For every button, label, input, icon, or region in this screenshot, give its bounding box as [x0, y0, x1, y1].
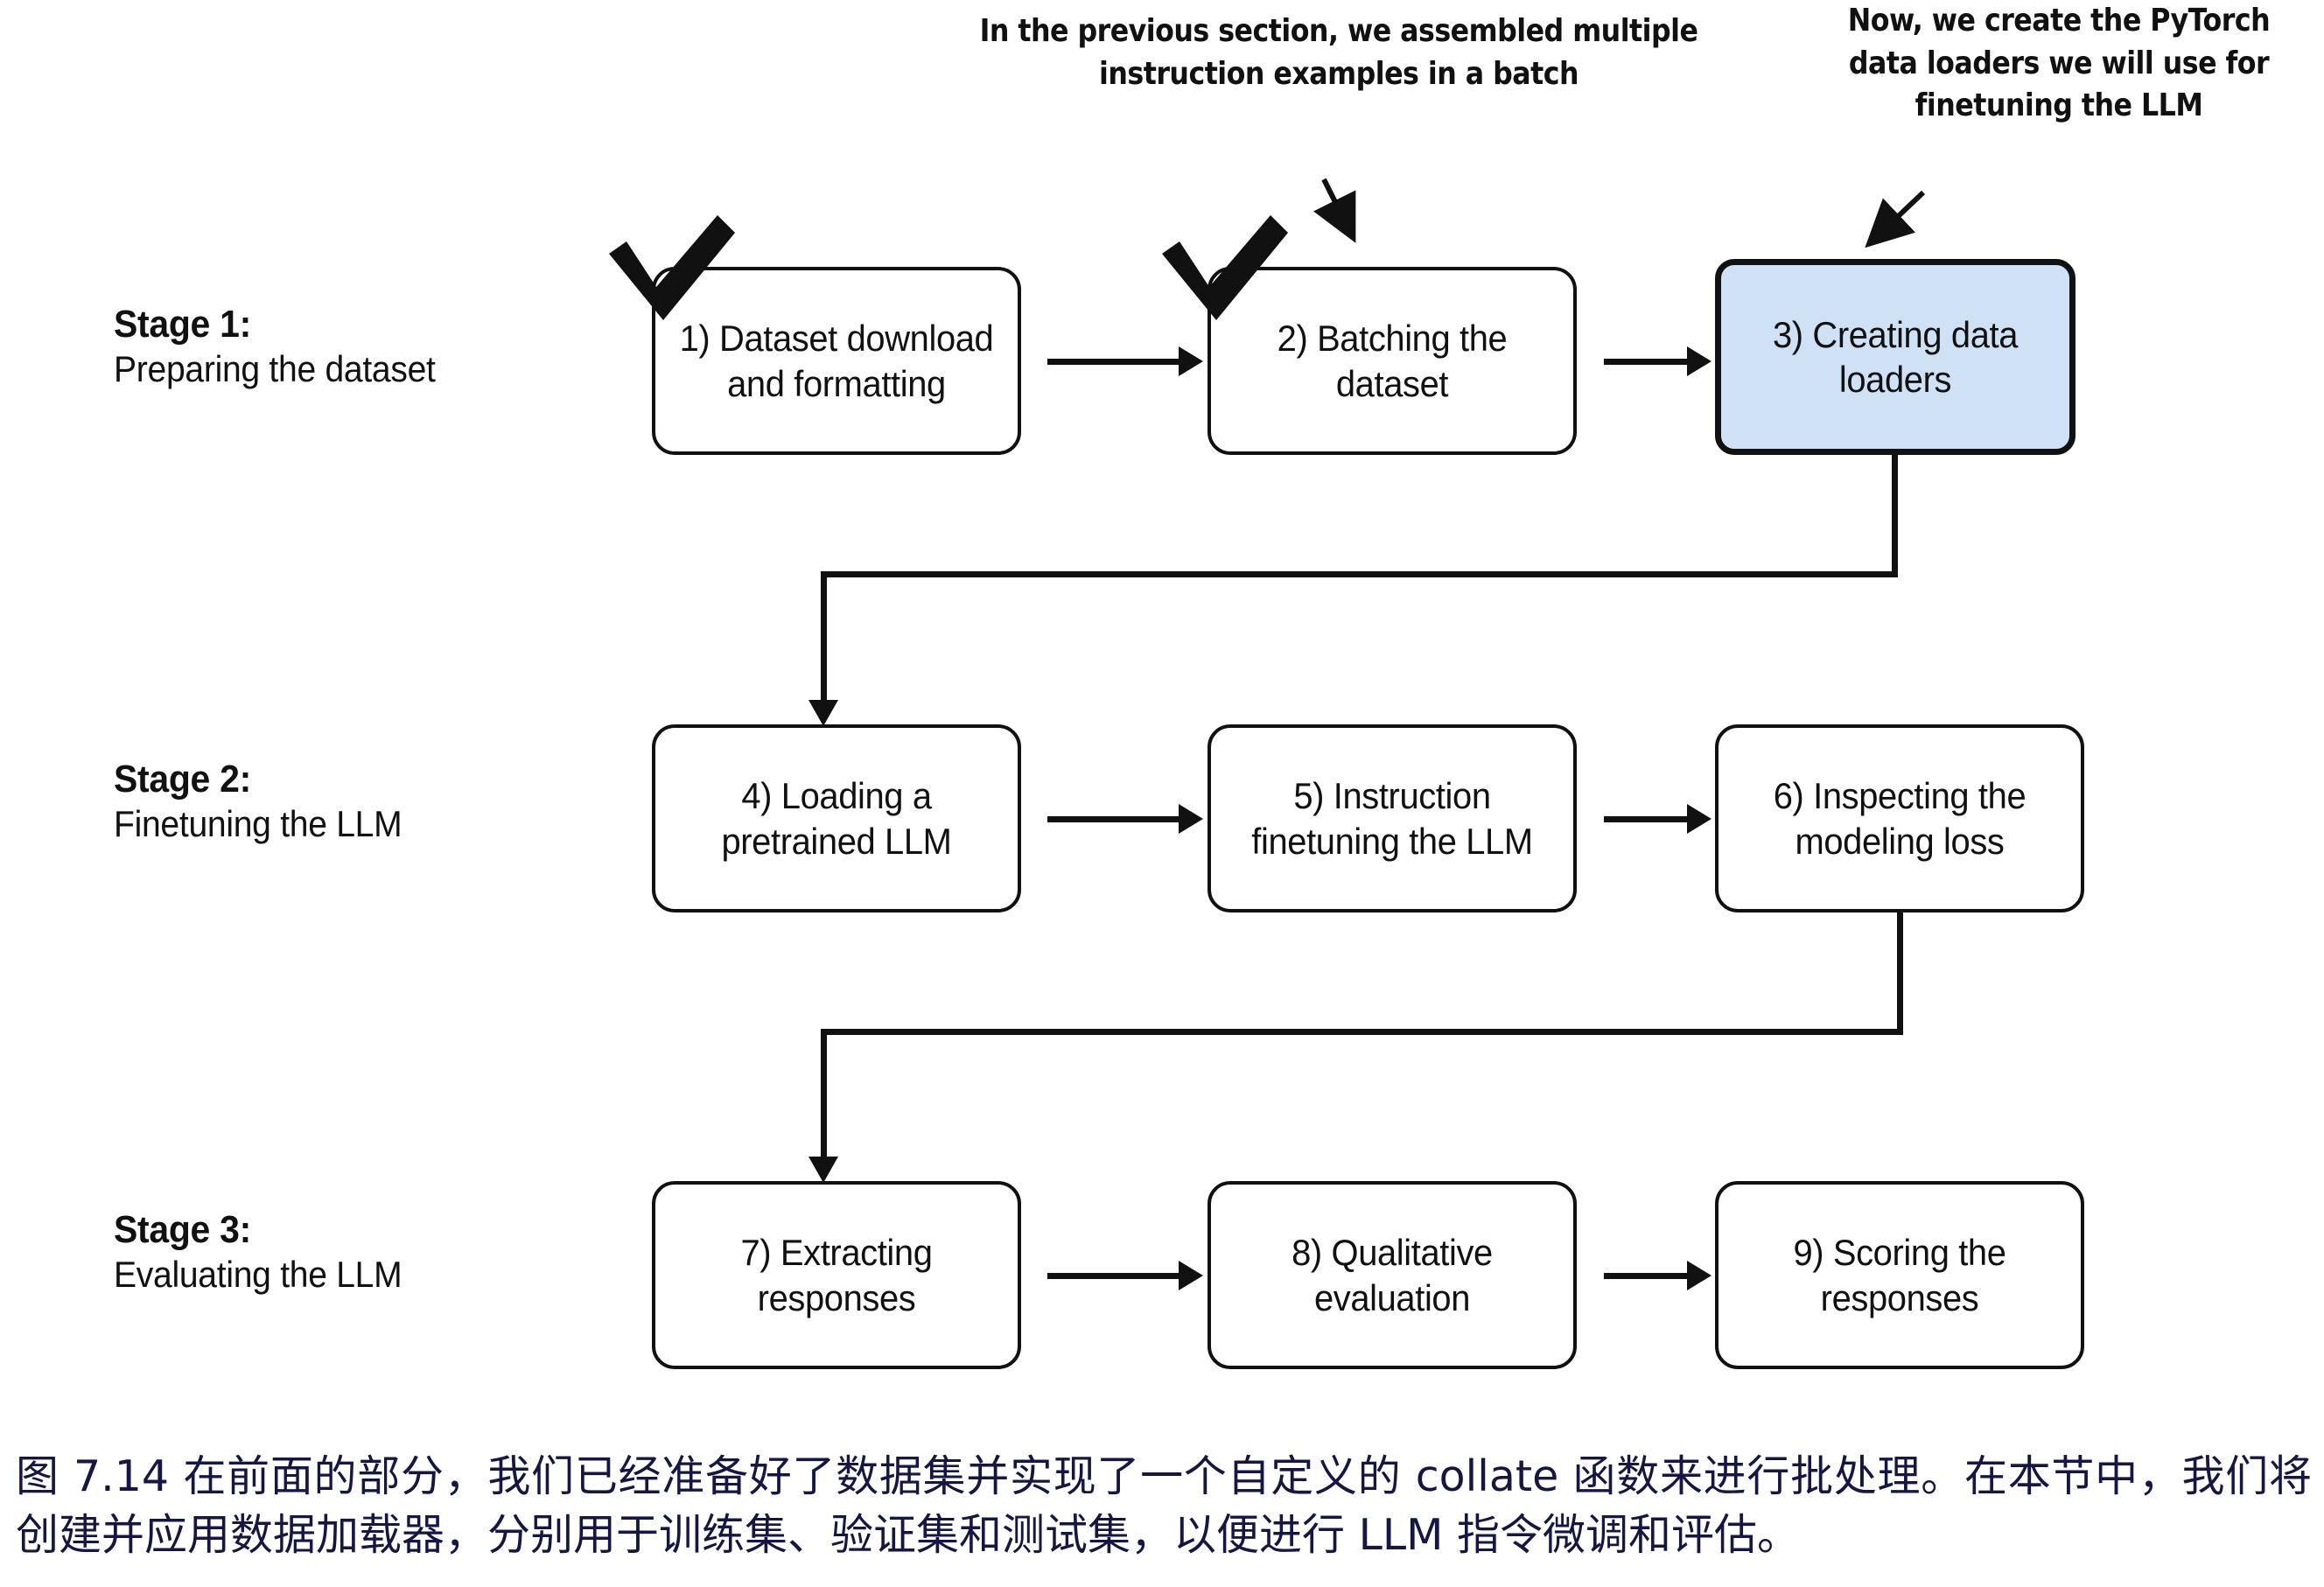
- process-box-5-label: 5) Instruction finetuning the LLM: [1232, 773, 1553, 863]
- stage-2-subtitle: Finetuning the LLM: [114, 802, 634, 846]
- stage-label-2: Stage 2: Finetuning the LLM: [114, 757, 634, 845]
- connector-box1-box2-arrowhead-icon: [1179, 346, 1203, 376]
- connector-stage2-stage3-horizontal: [821, 1029, 1903, 1035]
- connector-box2-box3-arrowhead-icon: [1687, 346, 1711, 376]
- figure-caption: 图 7.14 在前面的部分，我们已经准备好了数据集并实现了一个自定义的 coll…: [16, 1448, 2312, 1564]
- connector-box5-box6-arrowhead-icon: [1687, 804, 1711, 834]
- process-box-9-label: 9) Scoring the responses: [1739, 1230, 2061, 1319]
- connector-box7-box8-arrowhead-icon: [1179, 1261, 1203, 1290]
- connector-stage1-stage2-vertical-right: [1892, 455, 1898, 577]
- process-box-2-label: 2) Batching the dataset: [1232, 316, 1553, 405]
- process-box-4-label: 4) Loading a pretrained LLM: [676, 773, 997, 863]
- process-box-6-label: 6) Inspecting the modeling loss: [1739, 773, 2061, 863]
- figure-flowchart: In the previous section, we assembled mu…: [0, 0, 2324, 1587]
- connector-box8-box9-line: [1604, 1273, 1687, 1279]
- connector-box7-box8-line: [1047, 1273, 1179, 1279]
- connector-box2-box3-line: [1604, 359, 1687, 365]
- process-box-9-scoring-the-responses[interactable]: 9) Scoring the responses: [1715, 1181, 2084, 1369]
- process-box-5-instruction-finetuning-the-llm[interactable]: 5) Instruction finetuning the LLM: [1207, 724, 1577, 912]
- stage-label-1: Stage 1: Preparing the dataset: [114, 302, 634, 390]
- process-box-8-label: 8) Qualitative evaluation: [1232, 1230, 1553, 1319]
- connector-box4-box5-arrowhead-icon: [1179, 804, 1203, 834]
- annotation-dataloaders-note: Now, we create the PyTorch data loaders …: [1825, 0, 2292, 128]
- stage-1-title: Stage 1:: [114, 302, 634, 347]
- connector-box4-box5-line: [1047, 816, 1179, 822]
- connector-stage1-stage2-arrowhead-icon: [808, 700, 838, 726]
- checkmark-icon-box-1: [602, 210, 742, 328]
- checkmark-icon-box-2: [1155, 210, 1295, 328]
- connector-stage2-stage3-vertical-right: [1897, 912, 1903, 1035]
- annotation-batching-note: In the previous section, we assembled mu…: [976, 10, 1700, 95]
- connector-stage1-stage2-vertical-left: [821, 571, 827, 707]
- connector-stage1-stage2-horizontal: [821, 571, 1898, 577]
- connector-box5-box6-line: [1604, 816, 1687, 822]
- connector-stage2-stage3-arrowhead-icon: [808, 1157, 838, 1183]
- process-box-1-label: 1) Dataset download and formatting: [676, 316, 997, 405]
- process-box-8-qualitative-evaluation[interactable]: 8) Qualitative evaluation: [1207, 1181, 1577, 1369]
- process-box-6-inspecting-the-modeling-loss[interactable]: 6) Inspecting the modeling loss: [1715, 724, 2084, 912]
- annotation-batching-pointer-arrow-icon: [1286, 153, 1409, 267]
- process-box-7-label: 7) Extracting responses: [676, 1230, 997, 1319]
- stage-2-title: Stage 2:: [114, 757, 634, 802]
- process-box-4-loading-a-pretrained-llm[interactable]: 4) Loading a pretrained LLM: [652, 724, 1021, 912]
- connector-stage2-stage3-vertical-left: [821, 1029, 827, 1164]
- stage-1-subtitle: Preparing the dataset: [114, 347, 634, 391]
- process-box-7-extracting-responses[interactable]: 7) Extracting responses: [652, 1181, 1021, 1369]
- stage-3-title: Stage 3:: [114, 1207, 634, 1253]
- connector-box1-box2-line: [1047, 359, 1179, 365]
- process-box-3-creating-data-loaders[interactable]: 3) Creating data loaders: [1715, 259, 2075, 455]
- stage-label-3: Stage 3: Evaluating the LLM: [114, 1207, 634, 1296]
- stage-3-subtitle: Evaluating the LLM: [114, 1253, 634, 1297]
- connector-box8-box9-arrowhead-icon: [1687, 1261, 1711, 1290]
- process-box-3-label: 3) Creating data loaders: [1741, 312, 2049, 402]
